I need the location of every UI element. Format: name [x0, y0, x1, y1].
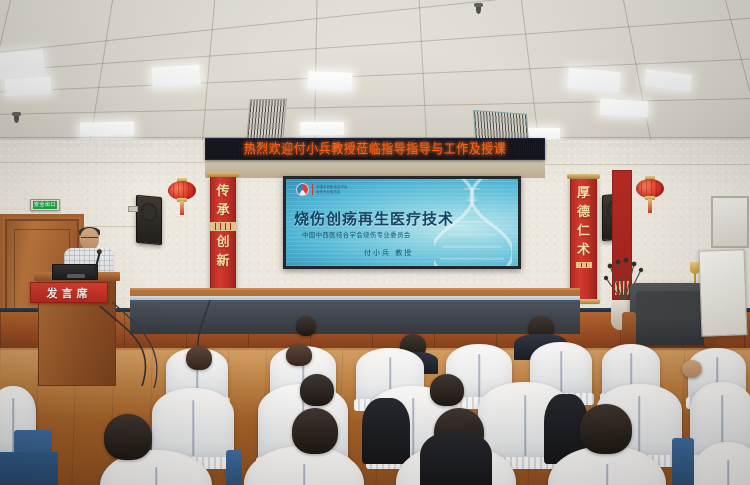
slide-subtitle: 中国中西医结合学会烧伤专业委员会 [302, 231, 502, 239]
ceiling [0, 0, 750, 150]
slide-logo-text: 中国中西医结合学会 烧伤专业委员会 [316, 185, 347, 194]
ceiling-panel-light [0, 50, 45, 79]
audience-head [292, 408, 338, 454]
lantern-tassel [180, 201, 184, 215]
slide-title: 烧伤创疡再生医疗技术 [294, 211, 504, 228]
emergency-exit-sign: 安全出口 [30, 199, 60, 211]
ceiling-panel-light [308, 71, 353, 91]
led-scrolling-banner: 热烈欢迎付小兵教授莅临指导指导与工作及授课 [205, 138, 545, 160]
scroll-rod-top [567, 174, 600, 179]
presenter-laptop[interactable] [52, 264, 98, 280]
podium-sign-label: 发言席 [47, 285, 92, 301]
banner-char: 厚 [577, 184, 590, 203]
audience-head [296, 316, 316, 336]
banner-right-houde-renshu: 厚 德 仁 术 [570, 178, 597, 300]
audience-head [300, 374, 334, 406]
banner-char: 新 [216, 252, 229, 271]
floor-monitor[interactable] [0, 452, 58, 485]
banner-seal-ornament [576, 262, 592, 268]
seat-back [672, 438, 694, 485]
audience-head [682, 360, 702, 378]
audience-head [186, 346, 212, 370]
wall-bracket [128, 206, 138, 212]
fire-sprinkler-icon [476, 5, 481, 14]
led-banner-text: 热烈欢迎付小兵教授莅临指导指导与工作及授课 [244, 142, 507, 157]
banner-char: 仁 [577, 222, 590, 241]
slide-presenter-name: 付小兵 教授 [364, 248, 413, 258]
banner-char: 术 [577, 241, 590, 260]
banner-char: 创 [216, 233, 229, 252]
conference-hall-photo: 热烈欢迎付小兵教授莅临指导指导与工作及授课 [0, 0, 750, 485]
exit-sign-label: 安全出口 [33, 201, 57, 209]
seat-back [226, 450, 242, 485]
ceiling-panel-light [5, 77, 52, 96]
audience-head [286, 344, 312, 366]
audience-seating [0, 300, 750, 485]
banner-char: 传 [216, 182, 229, 201]
red-lantern-right [636, 176, 664, 200]
banner-char: 德 [577, 203, 590, 222]
scroll-rod-top [207, 172, 239, 177]
projection-screen: 中国中西医结合学会 烧伤专业委员会 烧伤创疡再生医疗技术 中国中西医结合学会烧伤… [283, 176, 521, 269]
trophy-stem [694, 274, 696, 283]
audience-head [104, 414, 152, 460]
audience-head [430, 374, 464, 406]
slide-organization-logo: 中国中西医结合学会 烧伤专业委员会 [296, 183, 347, 196]
projected-slide: 中国中西医结合学会 烧伤专业委员会 烧伤创疡再生医疗技术 中国中西医结合学会烧伤… [286, 179, 518, 266]
banner-seal-ornament [210, 222, 236, 231]
wall-whiteboard [711, 196, 749, 248]
red-lantern-left [168, 178, 196, 202]
fire-sprinkler-icon [14, 114, 19, 123]
ceiling-panel-light [600, 99, 649, 117]
ceiling-air-vent [246, 99, 287, 143]
logo-divider [312, 184, 313, 195]
audience-person-dark [420, 432, 492, 485]
society-emblem-icon [296, 183, 309, 196]
lantern-tassel [648, 199, 652, 213]
ceiling-panel-light [80, 122, 134, 137]
glasses-icon [81, 237, 98, 241]
ceiling-panel-light [151, 64, 200, 87]
banner-left-chuancheng-chuangxin: 传 承 创 新 [210, 176, 236, 294]
ceiling-panel-light [300, 122, 344, 135]
banner-char: 承 [216, 201, 229, 220]
wall-speaker-left [136, 195, 162, 245]
audience-person-dark [362, 398, 410, 464]
audience-head [580, 404, 632, 454]
